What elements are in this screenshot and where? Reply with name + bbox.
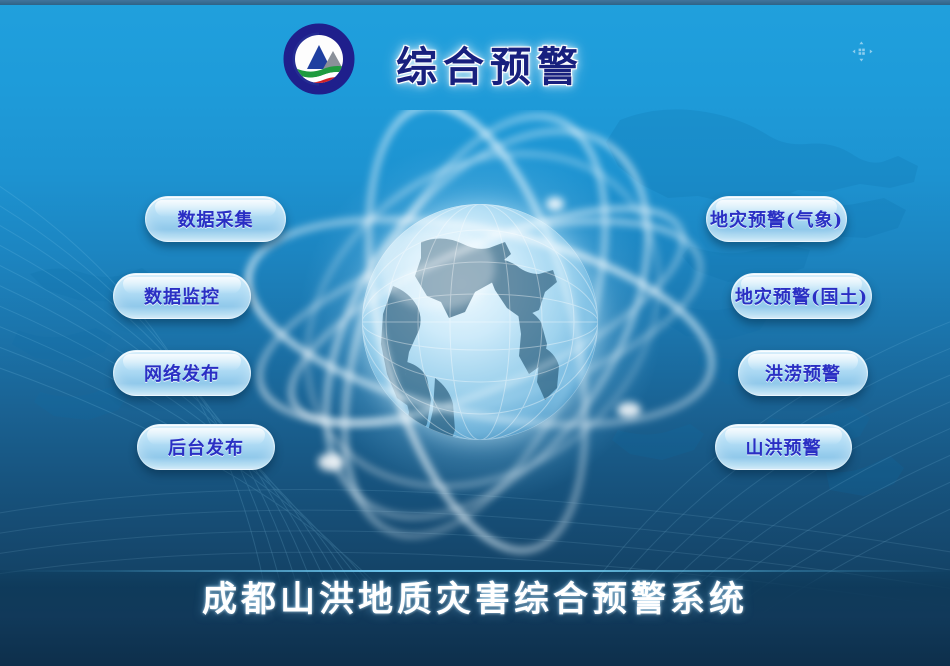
menu-button-data-monitoring[interactable]: 数据监控: [113, 273, 251, 319]
menu-button-geo-warning-meteorology[interactable]: 地灾预警(气象): [706, 196, 847, 242]
fullscreen-expand-icon[interactable]: [852, 41, 873, 62]
menu-button-geo-warning-land[interactable]: 地灾预警(国土): [731, 273, 872, 319]
mountain-emblem-logo: [283, 23, 355, 95]
menu-button-mountain-flood-warning[interactable]: 山洪预警: [715, 424, 852, 470]
menu-button-label: 网络发布: [144, 360, 220, 386]
menu-button-data-collection[interactable]: 数据采集: [145, 196, 286, 242]
menu-button-label: 后台发布: [168, 434, 244, 460]
menu-button-label: 数据监控: [144, 283, 220, 309]
page-header: 综合预警: [0, 5, 950, 105]
globe-orbit-graphic: [225, 110, 735, 570]
page-title: 综合预警: [396, 33, 584, 93]
menu-button-backend-publish[interactable]: 后台发布: [137, 424, 275, 470]
application-window: 综合预警 数据采集 数据监控 网络发布 后台发布: [0, 0, 950, 666]
menu-button-label: 数据采集: [178, 206, 254, 232]
menu-button-label: 洪涝预警: [765, 360, 841, 386]
window-titlebar: [0, 0, 950, 5]
menu-button-label: 地灾预警(气象): [710, 206, 843, 232]
menu-button-label: 地灾预警(国土): [735, 283, 868, 309]
menu-button-flood-warning[interactable]: 洪涝预警: [738, 350, 868, 396]
system-title: 成都山洪地质灾害综合预警系统: [0, 571, 950, 622]
menu-button-label: 山洪预警: [746, 434, 822, 460]
menu-button-network-publish[interactable]: 网络发布: [113, 350, 251, 396]
